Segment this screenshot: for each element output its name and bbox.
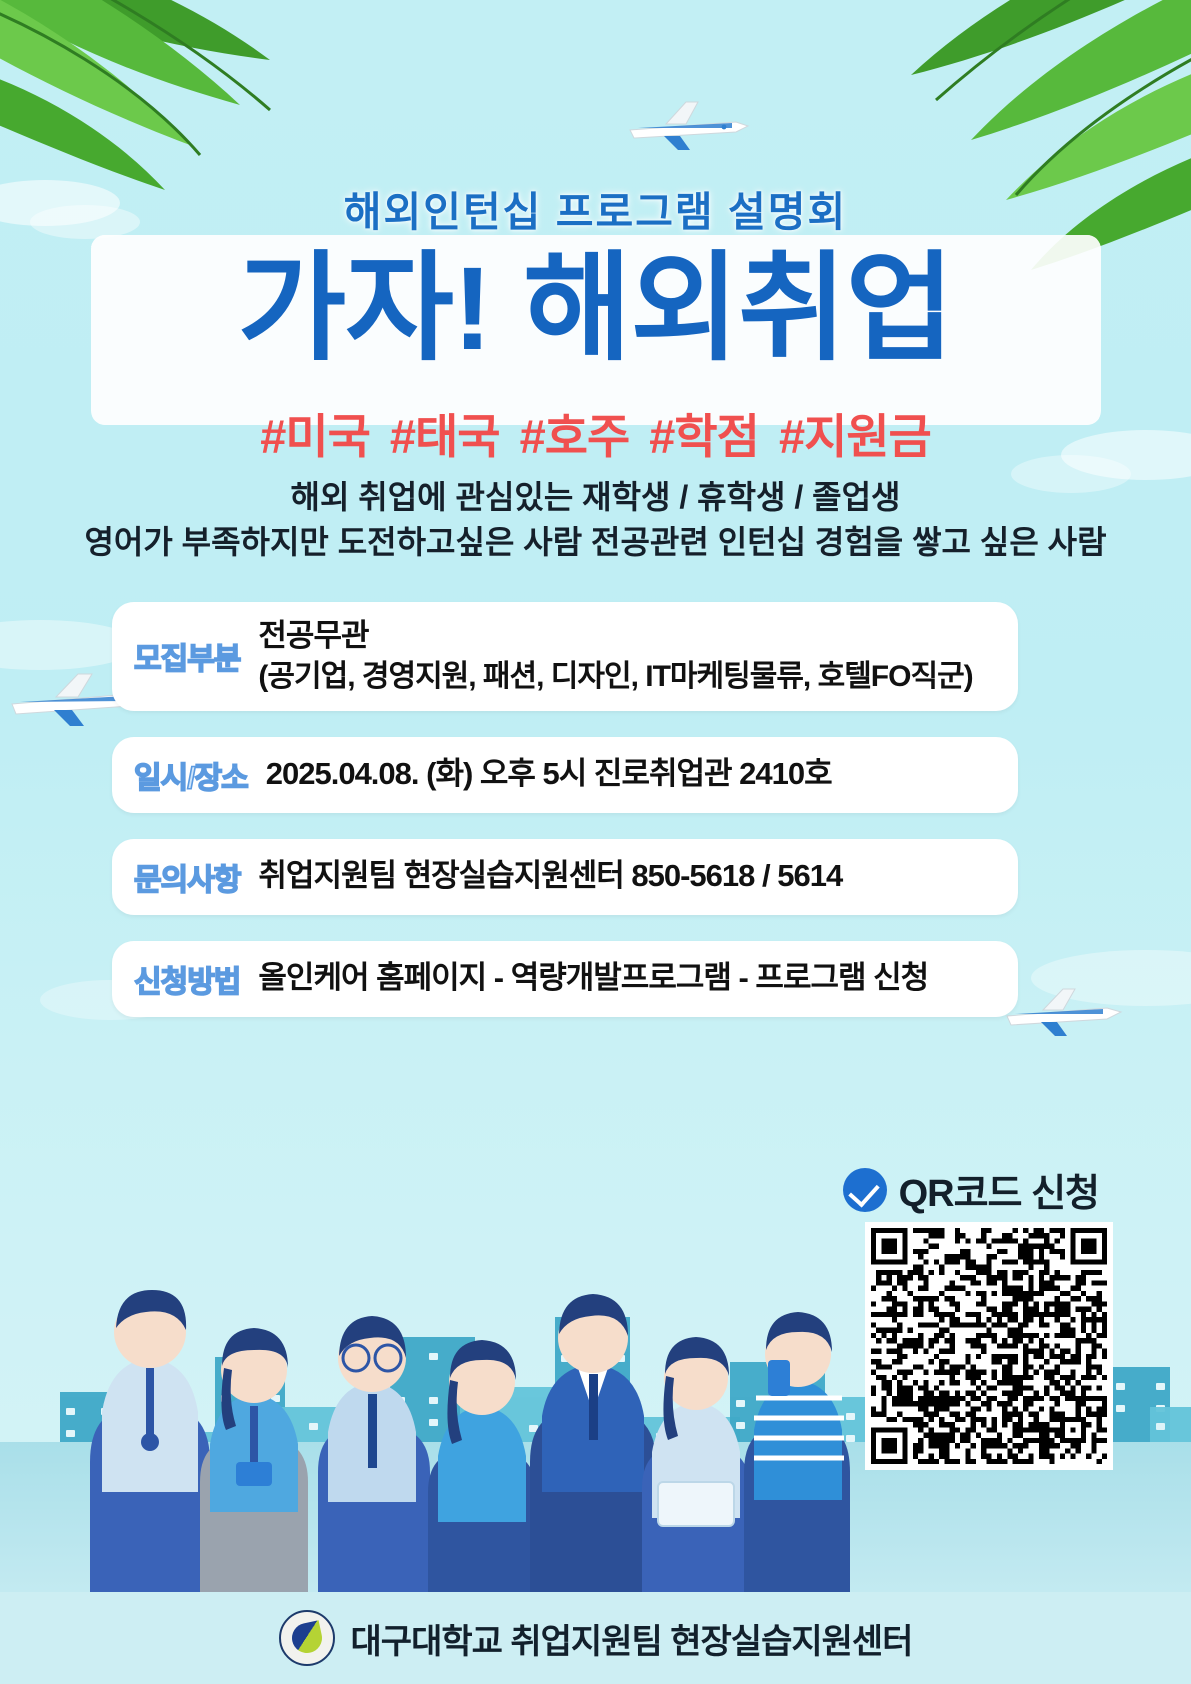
seal-inner-mark — [289, 1620, 325, 1656]
university-seal-icon — [279, 1610, 335, 1666]
audience-line-2: 영어가 부족하지만 도전하고싶은 사람 전공관련 인턴십 경험을 쌓고 싶은 사… — [0, 520, 1191, 565]
info-row-value: 전공무관 (공기업, 경영지원, 패션, 디자인, IT마케팅물류, 호텔FO직… — [258, 616, 972, 697]
footer-organization: 대구대학교 취업지원팀 현장실습지원센터 — [351, 1614, 913, 1663]
hashtag-item: #지원금 — [779, 410, 931, 463]
building-window — [1116, 1383, 1125, 1390]
person-figure — [90, 1290, 210, 1592]
hashtag-item: #미국 — [260, 410, 370, 463]
kicker-text: 해외인턴십 프로그램 설명회 — [0, 178, 1191, 238]
hashtag-item: #태국 — [390, 410, 500, 463]
qr-apply-text: QR코드 신청 — [899, 1162, 1099, 1217]
footer-bar: 대구대학교 취업지원팀 현장실습지원센터 — [0, 1592, 1191, 1684]
info-row-datetime-location: 일시/장소 2025.04.08. (화) 오후 5시 진로취업관 2410호 — [112, 737, 1018, 813]
info-row-label: 문의사항 — [134, 855, 240, 899]
info-row-label: 신청방법 — [134, 957, 240, 1001]
info-row-value-line2: (공기업, 경영지원, 패션, 디자인, IT마케팅물류, 호텔FO직군) — [258, 657, 972, 697]
airplane-icon — [620, 92, 755, 156]
check-circle-icon — [843, 1168, 887, 1212]
qr-code[interactable] — [865, 1222, 1113, 1470]
poster-canvas: 해외인턴십 프로그램 설명회 가자! 해외취업 #미국 #태국 #호주 #학점 … — [0, 0, 1191, 1684]
building-window — [1156, 1383, 1165, 1390]
info-row-list: 모집부분 전공무관 (공기업, 경영지원, 패션, 디자인, IT마케팅물류, … — [112, 602, 1018, 1043]
business-people-illustration — [50, 1162, 850, 1592]
airplane-icon — [999, 980, 1129, 1042]
building-window — [1156, 1423, 1165, 1430]
building-window — [1116, 1405, 1125, 1412]
info-row-label: 일시/장소 — [134, 753, 248, 797]
hashtag-list: #미국 #태국 #호주 #학점 #지원금 — [0, 398, 1191, 467]
audience-line-1: 해외 취업에 관심있는 재학생 / 휴학생 / 졸업생 — [0, 475, 1191, 520]
person-figure — [318, 1316, 430, 1592]
info-row-value-line1: 전공무관 — [258, 618, 368, 653]
info-row-recruitment-field: 모집부분 전공무관 (공기업, 경영지원, 패션, 디자인, IT마케팅물류, … — [112, 602, 1018, 711]
hashtag-item: #호주 — [520, 410, 630, 463]
person-figure — [200, 1328, 308, 1592]
hashtag-item: #학점 — [649, 410, 759, 463]
page-title: 가자! 해외취업 — [0, 248, 1191, 372]
person-figure — [642, 1337, 750, 1592]
info-row-label: 모집부분 — [134, 634, 240, 678]
info-row-contact: 문의사항 취업지원팀 현장실습지원센터 850-5618 / 5614 — [112, 839, 1018, 915]
person-figure — [530, 1294, 656, 1592]
info-row-value: 2025.04.08. (화) 오후 5시 진로취업관 2410호 — [266, 754, 832, 795]
qr-apply-label: QR코드 신청 — [843, 1162, 1099, 1217]
info-row-value: 취업지원팀 현장실습지원센터 850-5618 / 5614 — [258, 856, 842, 897]
person-figure — [428, 1340, 536, 1592]
person-figure — [744, 1312, 850, 1592]
info-row-application-method: 신청방법 올인케어 홈페이지 - 역량개발프로그램 - 프로그램 신청 — [112, 941, 1018, 1017]
audience-description: 해외 취업에 관심있는 재학생 / 휴학생 / 졸업생 영어가 부족하지만 도전… — [0, 475, 1191, 566]
info-row-value: 올인케어 홈페이지 - 역량개발프로그램 - 프로그램 신청 — [258, 958, 928, 999]
